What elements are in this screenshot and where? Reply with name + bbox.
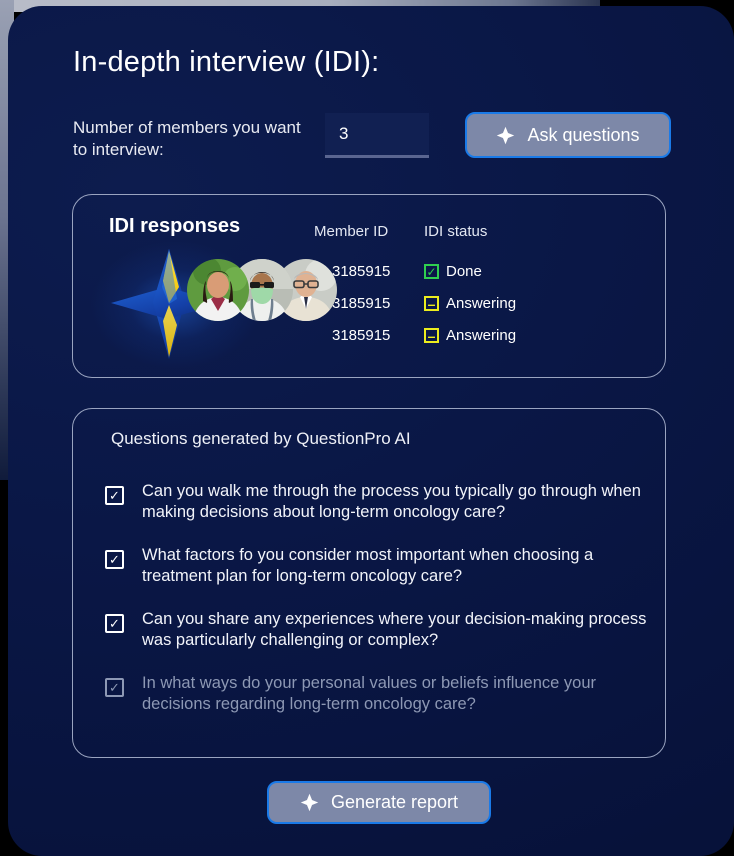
status-label: Done xyxy=(446,263,482,280)
generate-report-label: Generate report xyxy=(331,792,458,813)
status-label: Answering xyxy=(446,327,516,344)
idi-responses-card: IDI responses xyxy=(72,194,666,378)
question-text: What factors fo you consider most import… xyxy=(142,545,665,587)
member-id-value: 3185915 xyxy=(332,263,390,280)
checkbox-checked-icon[interactable]: ✓ xyxy=(105,486,124,505)
checkbox-checked-icon: ✓ xyxy=(424,264,439,279)
idi-responses-title: IDI responses xyxy=(109,215,240,238)
checkbox-indeterminate-icon: – xyxy=(424,328,439,343)
checkbox-checked-icon[interactable]: ✓ xyxy=(105,678,124,697)
questions-list: ✓ Can you walk me through the process yo… xyxy=(105,481,665,737)
member-avatars xyxy=(187,259,337,321)
page-title: In-depth interview (IDI): xyxy=(73,46,379,79)
list-item[interactable]: ✓ What factors fo you consider most impo… xyxy=(105,545,665,587)
idi-panel: In-depth interview (IDI): Number of memb… xyxy=(8,6,734,856)
member-id-value: 3185915 xyxy=(332,327,390,344)
list-item[interactable]: ✓ Can you walk me through the process yo… xyxy=(105,481,665,523)
members-count-label: Number of members you want to interview: xyxy=(73,117,308,161)
checkbox-indeterminate-icon: – xyxy=(424,296,439,311)
status-badge: ✓ Done xyxy=(424,263,482,280)
status-badge: – Answering xyxy=(424,295,516,312)
question-text: In what ways do your personal values or … xyxy=(142,673,665,715)
column-header-idi-status: IDI status xyxy=(424,223,487,240)
list-item[interactable]: ✓ Can you share any experiences where yo… xyxy=(105,609,665,651)
avatar-member-1 xyxy=(187,259,249,321)
members-count-input[interactable] xyxy=(325,113,429,158)
table-row[interactable]: 3185915 ✓ Done xyxy=(73,263,665,295)
status-badge: – Answering xyxy=(424,327,516,344)
status-label: Answering xyxy=(446,295,516,312)
member-id-value: 3185915 xyxy=(332,295,390,312)
ask-questions-label: Ask questions xyxy=(527,125,639,146)
generated-questions-card: Questions generated by QuestionPro AI ✓ … xyxy=(72,408,666,758)
interview-controls: Number of members you want to interview:… xyxy=(73,112,683,172)
column-header-member-id: Member ID xyxy=(314,223,388,240)
list-item[interactable]: ✓ In what ways do your personal values o… xyxy=(105,673,665,715)
checkbox-checked-icon[interactable]: ✓ xyxy=(105,550,124,569)
ask-questions-button[interactable]: Ask questions xyxy=(465,112,671,158)
idi-responses-rows: 3185915 ✓ Done 3185915 – Answering 31859… xyxy=(73,263,665,359)
generate-report-button[interactable]: Generate report xyxy=(267,781,491,824)
question-text: Can you walk me through the process you … xyxy=(142,481,665,523)
questions-heading: Questions generated by QuestionPro AI xyxy=(111,429,411,449)
table-row[interactable]: 3185915 – Answering xyxy=(73,295,665,327)
table-row[interactable]: 3185915 – Answering xyxy=(73,327,665,359)
checkbox-checked-icon[interactable]: ✓ xyxy=(105,614,124,633)
sparkle-icon xyxy=(300,793,319,812)
sparkle-icon xyxy=(496,126,515,145)
question-text: Can you share any experiences where your… xyxy=(142,609,665,651)
